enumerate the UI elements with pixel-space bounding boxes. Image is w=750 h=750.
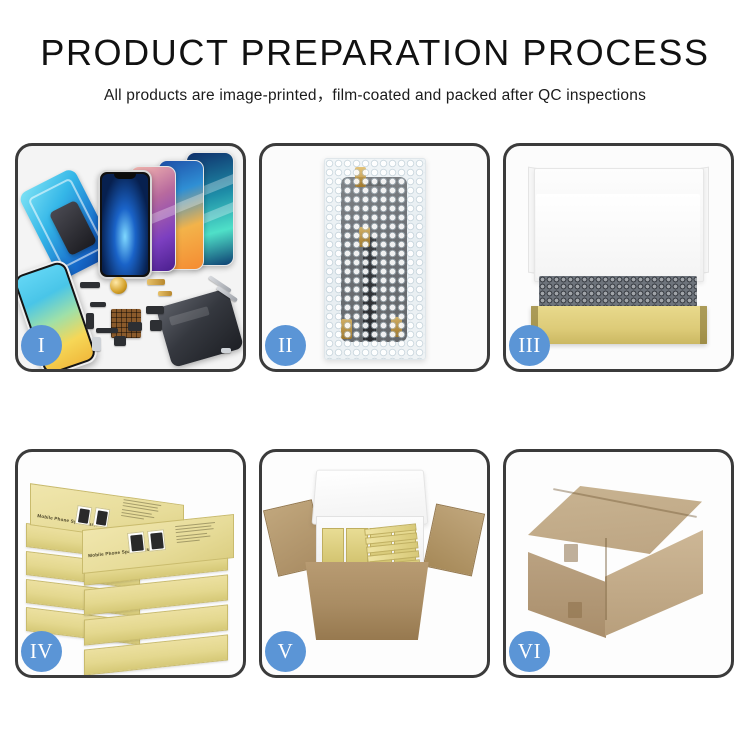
- phone-back-housing-icon: [156, 288, 243, 368]
- step-panel-product-parts-overview: I: [15, 143, 246, 372]
- part-screws-icon: [221, 348, 231, 353]
- step-badge: III: [509, 325, 550, 366]
- part-flex-cable-icon: [90, 302, 106, 307]
- step-panel-carton-loading: V: [259, 449, 490, 678]
- step-panel-boxed-units-stack: Mobile Phone Spare Parts Mobile Phone Sp…: [15, 449, 246, 678]
- page-title: PRODUCT PREPARATION PROCESS: [0, 34, 750, 72]
- header: PRODUCT PREPARATION PROCESS All products…: [0, 0, 750, 105]
- box-label-phone-image: [93, 507, 111, 528]
- step-badge: V: [265, 631, 306, 672]
- yellow-box-base-icon: [531, 306, 707, 344]
- part-connector-icon: [80, 282, 100, 288]
- vibration-motor-icon: [110, 277, 127, 294]
- box-label-phone-image: [147, 529, 166, 552]
- step-panel-sealed-shipping-carton: VI: [503, 449, 734, 678]
- carton-body-icon: [300, 562, 434, 640]
- carton-flap-right-icon: [423, 504, 485, 577]
- part-speaker-icon: [150, 320, 162, 331]
- bubble-filler-icon: [539, 276, 697, 308]
- part-sim-tray-icon: [92, 337, 101, 351]
- bubble-wrap-bag-icon: [324, 158, 426, 360]
- process-step-grid: I II: [15, 143, 735, 678]
- step-badge: II: [265, 325, 306, 366]
- phone-front-glass-icon: [98, 170, 152, 279]
- step-badge: IV: [21, 631, 62, 672]
- part-battery-connector-icon: [128, 322, 142, 331]
- page-subtitle: All products are image-printed，film-coat…: [0, 83, 750, 105]
- product-preparation-infographic: PRODUCT PREPARATION PROCESS All products…: [0, 0, 750, 750]
- part-gold-flex-icon: [147, 279, 165, 285]
- step-panel-bubble-wrap-packing: II: [259, 143, 490, 372]
- box-label-phone-image: [75, 505, 93, 526]
- step-badge: I: [21, 325, 62, 366]
- part-screw-strip-icon: [96, 328, 118, 333]
- carton-vertical-edge: [605, 538, 607, 620]
- box-label-phone-image: [127, 531, 146, 554]
- step-badge: VI: [509, 631, 550, 672]
- step-panel-inner-box-foam-packing: III: [503, 143, 734, 372]
- part-gold-clip-icon: [158, 291, 172, 296]
- bubble-texture: [325, 159, 425, 359]
- part-earpiece-icon: [114, 336, 126, 346]
- part-camera-module-icon: [146, 306, 164, 314]
- carton-tape-lower: [568, 602, 582, 618]
- part-bracket-icon: [86, 313, 94, 329]
- foam-sheet-icon: [536, 194, 700, 278]
- yellow-boxes-stack: [364, 523, 420, 566]
- carton-tape-upper: [564, 544, 578, 562]
